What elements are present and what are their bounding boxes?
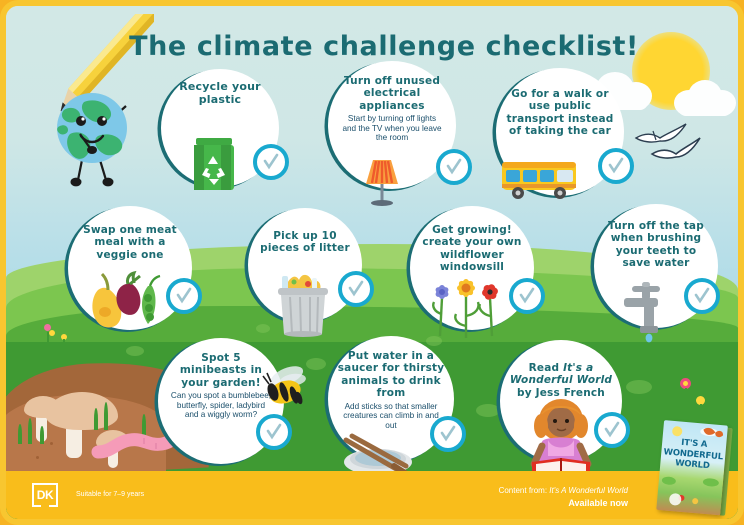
page-title: The climate challenge checklist! <box>124 32 644 62</box>
book-cover-art <box>656 420 728 515</box>
checklist-heading: Turn off the tap when brushing your teet… <box>602 220 710 270</box>
checkbox-swap-meat-meal[interactable] <box>166 278 202 314</box>
footer-bar: DK Suitable for 7–9 years Content from: … <box>6 471 738 519</box>
checkbox-water-saucer[interactable] <box>430 416 466 452</box>
content-from-title: It's A Wonderful World <box>549 486 628 495</box>
smiling-earth-icon <box>40 78 150 188</box>
lamp-icon <box>358 158 406 206</box>
checklist-heading: Read It's a Wonderful World by Jess Fren… <box>507 362 615 399</box>
bus-icon <box>500 158 580 202</box>
grass-speck <box>256 324 270 333</box>
checklist-heading: Swap one meat meal with a veggie one <box>76 224 184 261</box>
checklist-subtext: Add sticks so that smaller creatures can… <box>339 402 443 431</box>
content-credit-line: Content from: It's A Wonderful World <box>499 485 628 497</box>
grass-blade <box>40 426 44 444</box>
tap-icon <box>620 282 682 344</box>
checkbox-pick-up-litter[interactable] <box>338 271 374 307</box>
bumblebee-icon <box>259 364 315 412</box>
grass-speck <box>476 404 500 417</box>
checkbox-wildflower-windowsill[interactable] <box>509 278 545 314</box>
checklist-heading: Go for a walk or use public transport in… <box>505 88 615 138</box>
content-credit: Content from: It's A Wonderful World Ava… <box>499 485 628 511</box>
checklist-heading: Get growing! create your own wildflower … <box>418 224 526 274</box>
grass-speck <box>626 380 652 394</box>
checklist-heading: Turn off unused electrical appliances <box>337 75 447 112</box>
content-from-label: Content from: <box>499 486 550 495</box>
checklist-subtext: Can you spot a bumblebee, butterfly, spi… <box>169 391 273 420</box>
checkbox-turn-off-appliances[interactable] <box>436 149 472 185</box>
book-cover[interactable]: IT'S A WONDERFUL WORLD <box>656 420 734 518</box>
heading-pre: Read <box>529 362 563 374</box>
litter-bin-icon <box>272 264 334 338</box>
checkbox-recycle-plastic[interactable] <box>253 144 289 180</box>
recycling-bin-icon <box>188 136 240 194</box>
checkbox-turn-off-tap[interactable] <box>684 278 720 314</box>
book-front: IT'S A WONDERFUL WORLD <box>656 420 728 515</box>
heading-post: by Jess French <box>517 387 605 399</box>
poster-frame: The climate challenge checklist! Recycle… <box>0 0 744 525</box>
grass-speck <box>126 346 144 356</box>
checklist-subtext: Start by turning off lights and the TV w… <box>341 114 443 143</box>
dk-logo-notch <box>41 504 49 510</box>
checklist-heading: Pick up 10 pieces of litter <box>255 230 355 255</box>
grass-blade <box>28 418 32 444</box>
checkbox-spot-minibeasts[interactable] <box>256 414 292 450</box>
checklist-heading: Put water in a saucer for thirsty animal… <box>336 350 446 400</box>
available-now-text: Available now <box>499 497 628 511</box>
poster-root: The climate challenge checklist! Recycle… <box>0 0 744 525</box>
vegetables-icon <box>78 268 168 334</box>
wildflowers-icon <box>424 274 514 342</box>
checkbox-read-book[interactable] <box>594 412 630 448</box>
checkbox-walk-or-public-transport[interactable] <box>598 148 634 184</box>
seagulls-icon <box>632 110 702 168</box>
checklist-heading: Recycle your plastic <box>174 81 266 107</box>
grass-blade <box>18 424 22 444</box>
age-suitability-text: Suitable for 7–9 years <box>76 491 144 498</box>
